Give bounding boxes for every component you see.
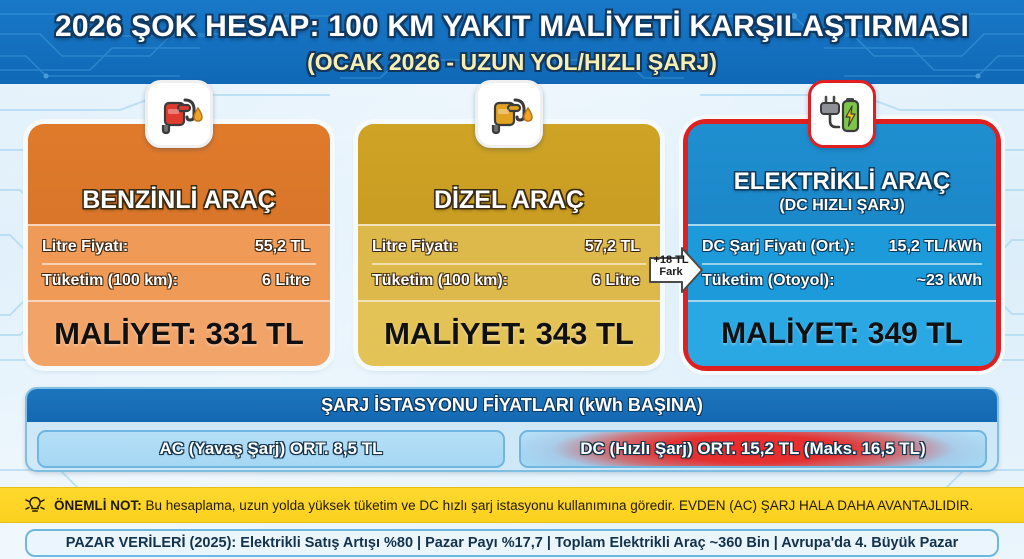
stat-key: DC Şarj Fiyatı (Ort.): [702, 238, 855, 256]
card-title-dizel: DİZEL ARAÇ [434, 186, 584, 215]
card-icon-badge-benzinli [145, 80, 213, 148]
stat-value: 15,2 TL/kWh [889, 238, 982, 256]
market-data-footer: PAZAR VERİLERİ (2025): Elektrikli Satış … [25, 529, 999, 557]
stat-value: 57,2 TL [585, 238, 646, 256]
stat-value: 6 Litre [592, 272, 646, 290]
stat-row: DC Şarj Fiyatı (Ort.): 15,2 TL/kWh [702, 230, 982, 263]
note-text: ÖNEMLİ NOT: Bu hesaplama, uzun yolda yük… [54, 498, 973, 513]
stat-row: Tüketim (Otoyol): ~23 kWh [702, 263, 982, 296]
fuel-pump-icon [154, 89, 204, 139]
stat-row: Tüketim (100 km): 6 Litre [372, 263, 646, 296]
stat-row: Litre Fiyatı: 55,2 TL [42, 230, 316, 263]
comparison-cards: BENZİNLİ ARAÇ Litre Fiyatı: 55,2 TL Tüke… [0, 124, 1024, 366]
difference-arrow-badge: +18 TL Fark [648, 242, 704, 298]
stat-key: Tüketim (100 km): [42, 272, 178, 290]
card-icon-badge-dizel [475, 80, 543, 148]
stat-value: 55,2 TL [255, 238, 316, 256]
stat-key: Tüketim (Otoyol): [702, 272, 834, 290]
page-title: 2026 ŞOK HESAP: 100 KM YAKIT MALİYETİ KA… [55, 10, 969, 44]
note-label: ÖNEMLİ NOT: [54, 498, 142, 513]
page-subtitle: (OCAK 2026 - UZUN YOL/HIZLI ŞARJ) [307, 49, 717, 76]
stat-key: Litre Fiyatı: [42, 238, 128, 256]
pill-ac-label: AC (Yavaş Şarj) ORT. 8,5 TL [160, 439, 383, 459]
stat-row: Tüketim (100 km): 6 Litre [42, 263, 316, 296]
pill-dc-price[interactable]: DC (Hızlı Şarj) ORT. 15,2 TL (Maks. 16,5… [519, 430, 987, 468]
infographic-root: 2026 ŞOK HESAP: 100 KM YAKIT MALİYETİ KA… [0, 0, 1024, 559]
difference-line2: Fark [651, 266, 691, 278]
card-subtitle-elektrikli: (DC HIZLI ŞARJ) [779, 197, 904, 215]
charging-station-panel: ŞARJ İSTASYONU FİYATLARI (kWh BAŞINA) AC… [25, 387, 999, 472]
cost-total-elektrikli: MALİYET: 349 TL [721, 317, 963, 351]
card-icon-badge-elektrikli [808, 80, 876, 148]
charging-station-heading-text: ŞARJ İSTASYONU FİYATLARI (kWh BAŞINA) [321, 395, 703, 416]
pill-ac-price[interactable]: AC (Yavaş Şarj) ORT. 8,5 TL [37, 430, 505, 468]
card-benzinli[interactable]: BENZİNLİ ARAÇ Litre Fiyatı: 55,2 TL Tüke… [28, 124, 330, 366]
card-title-benzinli: BENZİNLİ ARAÇ [82, 186, 276, 215]
difference-line1: +18 TL [651, 254, 691, 266]
charging-station-pills: AC (Yavaş Şarj) ORT. 8,5 TL DC (Hızlı Şa… [27, 422, 997, 468]
charging-station-heading: ŞARJ İSTASYONU FİYATLARI (kWh BAŞINA) [27, 389, 997, 422]
market-data-text: PAZAR VERİLERİ (2025): Elektrikli Satış … [66, 535, 959, 551]
stat-value: ~23 kWh [917, 272, 982, 290]
ev-plug-battery-icon [816, 91, 868, 137]
important-note-bar: ÖNEMLİ NOT: Bu hesaplama, uzun yolda yük… [0, 487, 1024, 523]
lightbulb-icon [24, 494, 46, 516]
stat-value: 6 Litre [262, 272, 316, 290]
card-title-elektrikli: ELEKTRİKLİ ARAÇ [734, 168, 950, 196]
stat-row: Litre Fiyatı: 57,2 TL [372, 230, 646, 263]
header-banner: 2026 ŞOK HESAP: 100 KM YAKIT MALİYETİ KA… [0, 0, 1024, 84]
pill-dc-label: DC (Hızlı Şarj) ORT. 15,2 TL (Maks. 16,5… [580, 439, 925, 459]
card-elektrikli[interactable]: ELEKTRİKLİ ARAÇ (DC HIZLI ŞARJ) DC Şarj … [688, 124, 996, 366]
cost-total-dizel: MALİYET: 343 TL [384, 316, 634, 352]
difference-label: +18 TL Fark [651, 254, 691, 278]
stat-key: Litre Fiyatı: [372, 238, 458, 256]
stat-key: Tüketim (100 km): [372, 272, 508, 290]
card-dizel[interactable]: DİZEL ARAÇ Litre Fiyatı: 57,2 TL Tüketim… [358, 124, 660, 366]
cost-total-benzinli: MALİYET: 331 TL [54, 316, 304, 352]
fuel-pump-icon [484, 89, 534, 139]
note-body: Bu hesaplama, uzun yolda yüksek tüketim … [142, 498, 973, 513]
